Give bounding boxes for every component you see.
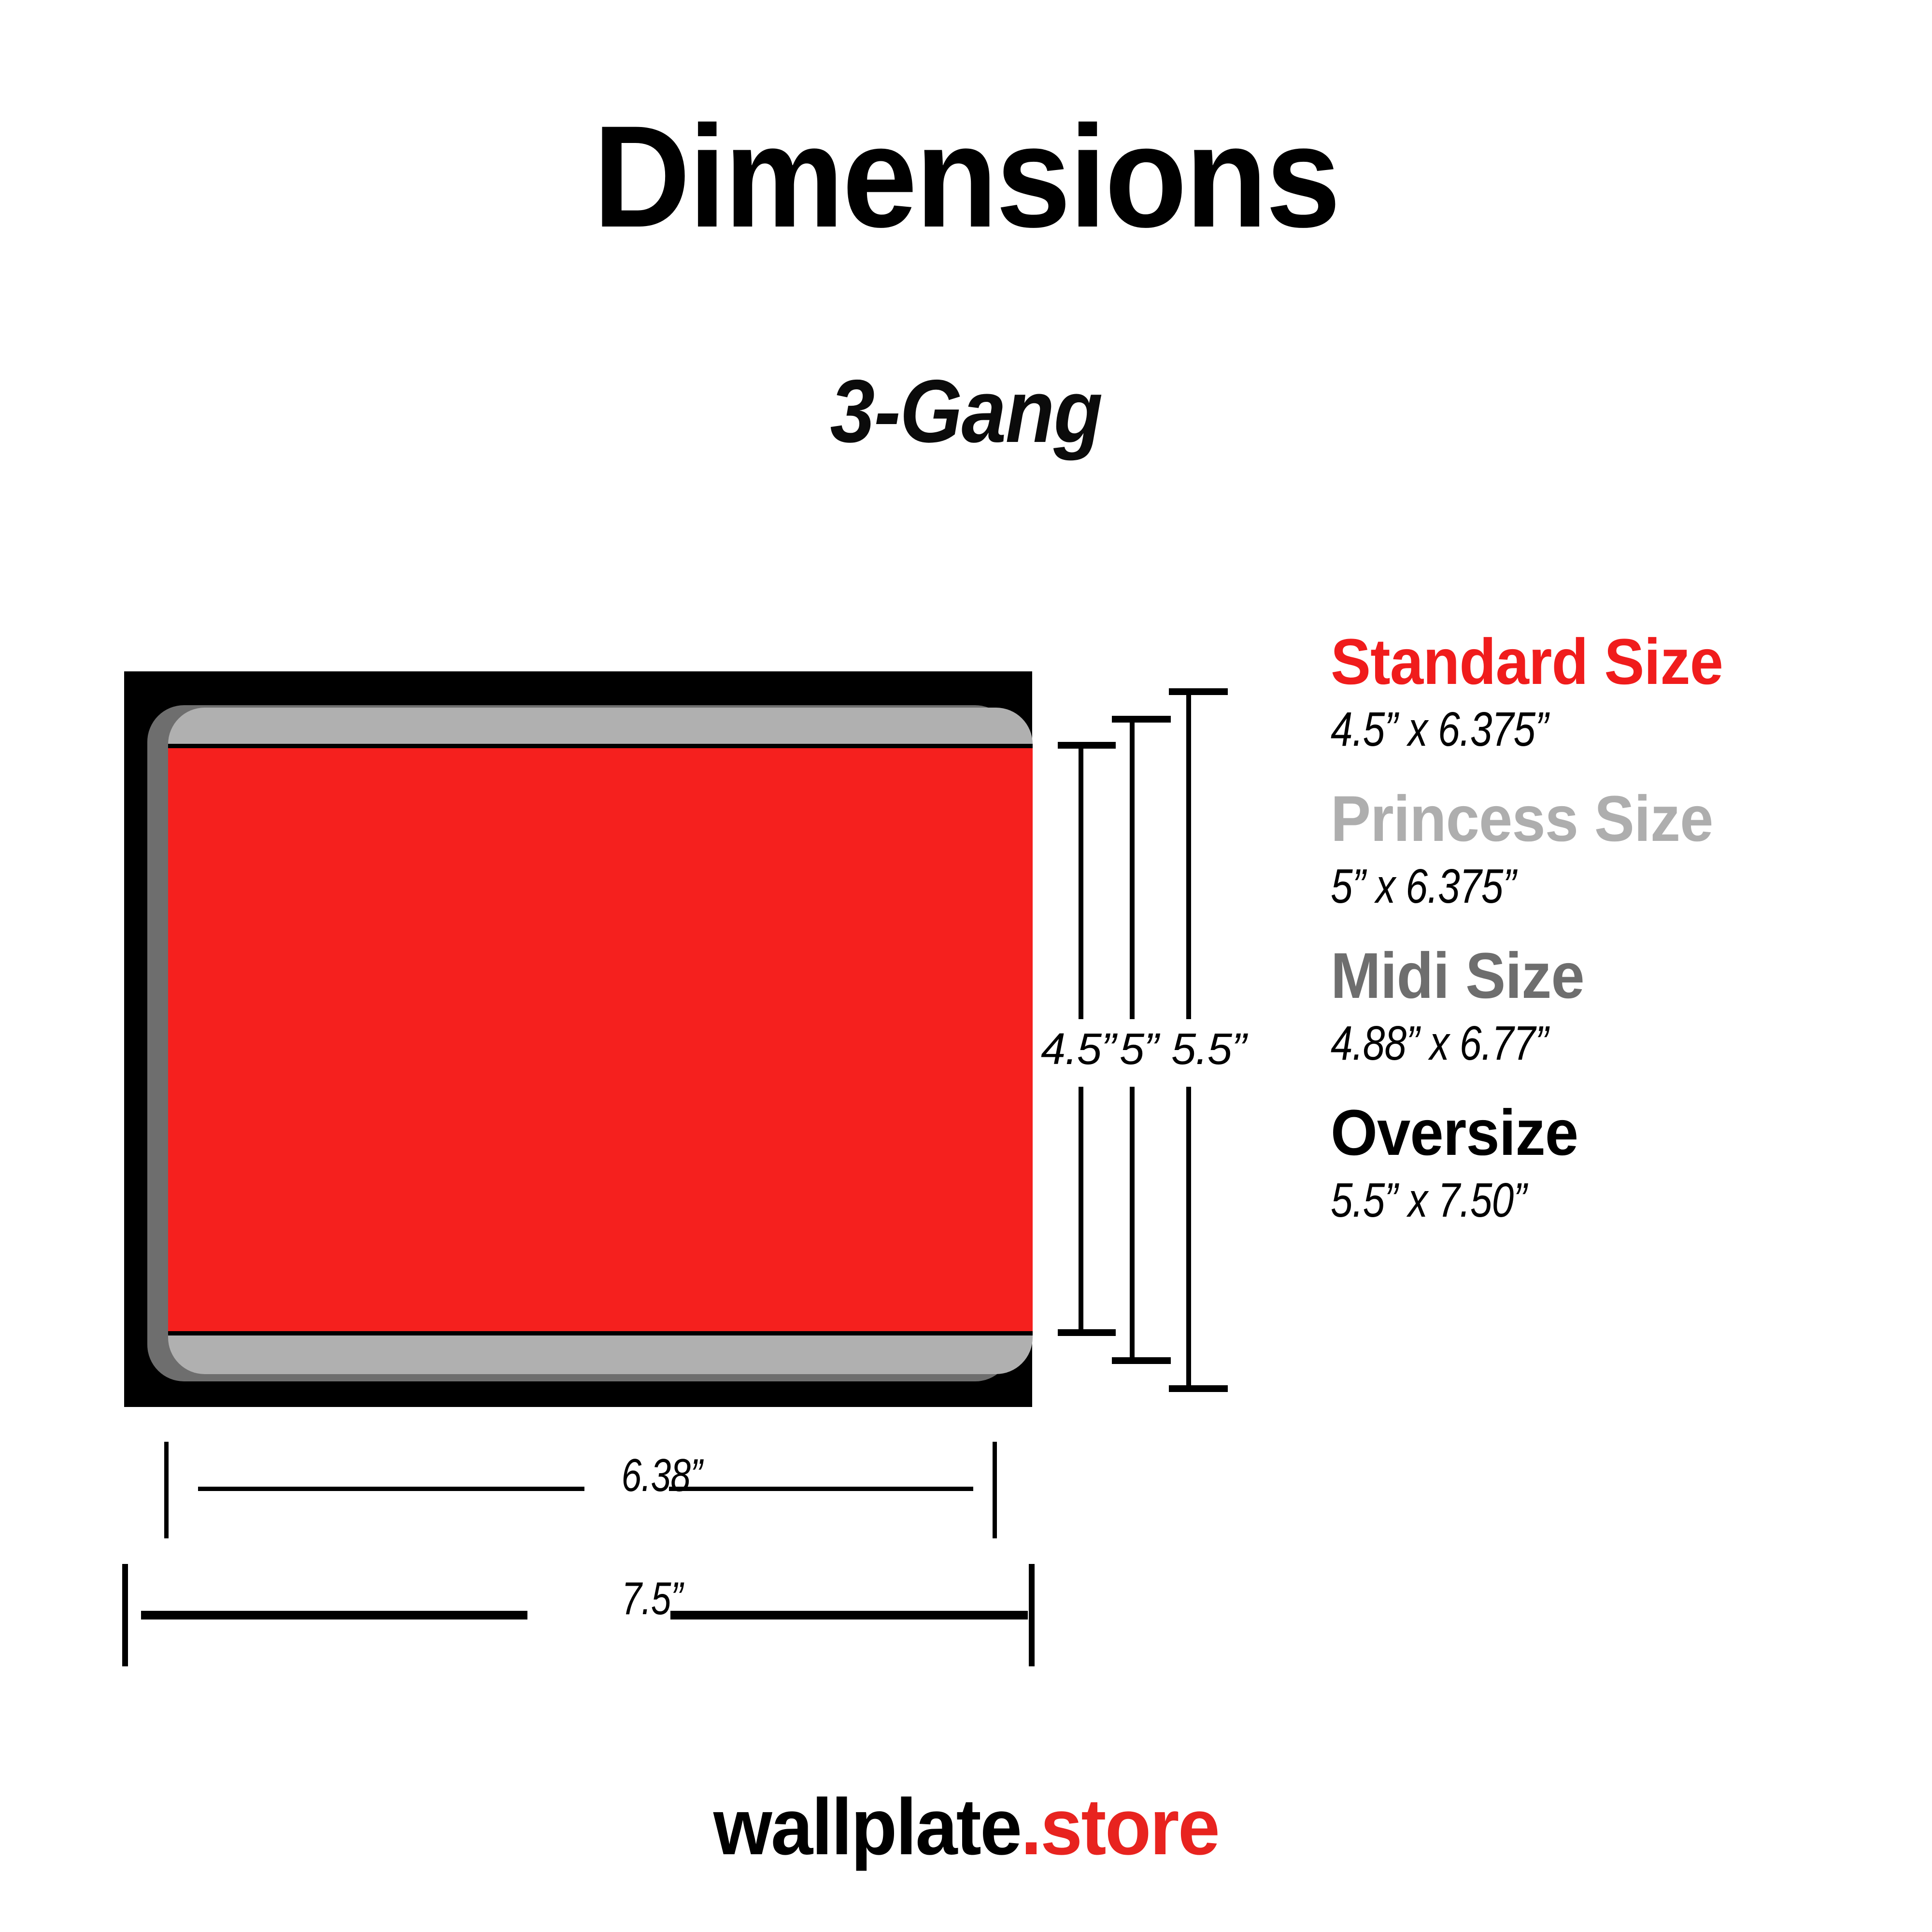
size-dims-oversize: 5.5” x 7.50” xyxy=(1331,1170,1818,1231)
hdim-cap-right-inner xyxy=(993,1442,997,1538)
size-entry-oversize: Oversize 5.5” x 7.50” xyxy=(1331,1099,1925,1231)
hdim-cap-right-outer xyxy=(1029,1564,1035,1666)
vdim-tick-top-5 xyxy=(1112,716,1171,723)
brand-logo: wallplate.store xyxy=(48,1787,1884,1867)
page-subtitle: 3-Gang xyxy=(97,367,1835,456)
size-name-standard: Standard Size xyxy=(1331,628,1883,696)
size-dims-midi: 4.88” x 6.77” xyxy=(1331,1013,1818,1074)
vdim-label-group: 4.5”5”5.5” xyxy=(1041,1024,1263,1075)
hdim-line-left-inner xyxy=(198,1487,584,1491)
vdim-line-lower-5 xyxy=(1130,1087,1135,1357)
hdim-line-right-inner xyxy=(669,1487,973,1491)
logo-dot: . xyxy=(1021,1782,1040,1871)
size-name-oversize: Oversize xyxy=(1331,1099,1883,1167)
vdim-tick-top-4-5 xyxy=(1058,742,1116,749)
vdim-tick-bottom-5-5 xyxy=(1169,1385,1228,1392)
vdim-line-upper-5-5 xyxy=(1186,695,1191,1019)
hdim-line-right-outer xyxy=(670,1611,1028,1619)
vdim-line-upper-5 xyxy=(1130,723,1135,1019)
vdim-line-lower-4-5 xyxy=(1079,1087,1083,1329)
size-entry-standard: Standard Size 4.5” x 6.375” xyxy=(1331,628,1925,760)
vdim-tick-bottom-5 xyxy=(1112,1357,1171,1364)
wallplate-illustration xyxy=(124,671,1032,1407)
logo-brand-text: wallplate xyxy=(713,1782,1021,1871)
size-dims-standard: 4.5” x 6.375” xyxy=(1331,699,1818,760)
size-entry-midi: Midi Size 4.88” x 6.77” xyxy=(1331,942,1925,1074)
diagram-canvas: Dimensions 3-Gang 4.5”5”5.5” 6.38” 7.5” … xyxy=(0,0,1932,1932)
hdim-cap-left-inner xyxy=(164,1442,169,1538)
vdim-label-5-5: 5.5” xyxy=(1171,1024,1246,1075)
hdim-line-left-outer xyxy=(141,1611,527,1619)
vdim-tick-top-5-5 xyxy=(1169,688,1228,695)
vdim-line-lower-5-5 xyxy=(1186,1087,1191,1385)
logo-tld-text: store xyxy=(1040,1782,1219,1871)
vdim-line-upper-4-5 xyxy=(1079,749,1083,1019)
size-legend: Standard Size 4.5” x 6.375” Princess Siz… xyxy=(1331,628,1925,1256)
vdim-label-5: 5” xyxy=(1120,1024,1171,1075)
vdim-label-4-5: 4.5” xyxy=(1041,1024,1120,1075)
plate-center-opening xyxy=(168,744,1033,1335)
hdim-label-inner: 6.38” xyxy=(549,1449,775,1502)
vdim-tick-bottom-4-5 xyxy=(1058,1329,1116,1336)
size-name-princess: Princess Size xyxy=(1331,785,1883,853)
size-entry-princess: Princess Size 5” x 6.375” xyxy=(1331,785,1925,917)
size-name-midi: Midi Size xyxy=(1331,942,1883,1010)
size-dims-princess: 5” x 6.375” xyxy=(1331,856,1818,917)
page-title: Dimensions xyxy=(68,104,1864,249)
hdim-cap-left-outer xyxy=(122,1564,128,1666)
